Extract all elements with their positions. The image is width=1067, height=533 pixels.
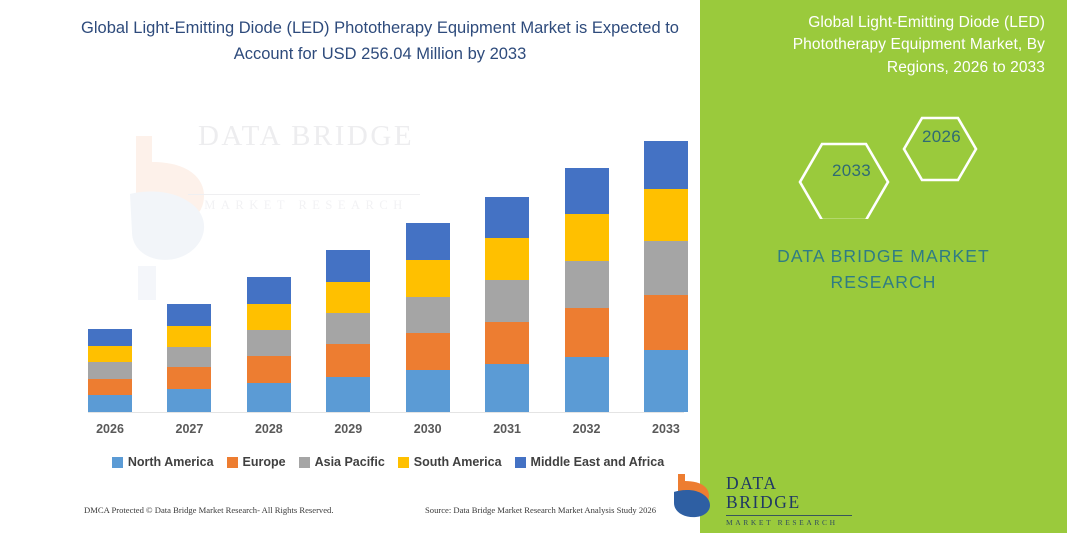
bar-segment[interactable] bbox=[485, 364, 529, 412]
bar-segment[interactable] bbox=[565, 308, 609, 357]
bar-segment[interactable] bbox=[565, 261, 609, 308]
bar-segment[interactable] bbox=[565, 357, 609, 412]
logo-tagline: MARKET RESEARCH bbox=[726, 518, 852, 527]
bar-segment[interactable] bbox=[406, 297, 450, 333]
bar-segment[interactable] bbox=[88, 379, 132, 396]
bar-segment[interactable] bbox=[88, 395, 132, 412]
x-axis-labels: 20262027202820292030203120322033 bbox=[88, 422, 688, 442]
legend-label: North America bbox=[128, 455, 214, 469]
x-axis-label: 2029 bbox=[326, 422, 370, 442]
bar-segment[interactable] bbox=[485, 197, 529, 239]
bar-2027[interactable] bbox=[167, 304, 211, 412]
bar-segment[interactable] bbox=[247, 330, 291, 356]
bar-segment[interactable] bbox=[485, 322, 529, 365]
legend-item[interactable]: North America bbox=[112, 455, 214, 469]
bar-segment[interactable] bbox=[88, 329, 132, 346]
bar-segment[interactable] bbox=[167, 326, 211, 347]
bar-segment[interactable] bbox=[565, 168, 609, 215]
x-axis-line bbox=[88, 412, 684, 413]
footer-source: Source: Data Bridge Market Research Mark… bbox=[425, 505, 656, 515]
infographic-page: Global Light-Emitting Diode (LED) Photot… bbox=[0, 0, 1067, 533]
legend-swatch bbox=[112, 457, 123, 468]
x-axis-label: 2026 bbox=[88, 422, 132, 442]
bar-2030[interactable] bbox=[406, 223, 450, 412]
bar-segment[interactable] bbox=[167, 347, 211, 368]
logo-divider bbox=[726, 515, 852, 516]
hexagon-group: 2033 2026 bbox=[790, 104, 1040, 219]
bar-segment[interactable] bbox=[406, 370, 450, 412]
legend-item[interactable]: Asia Pacific bbox=[299, 455, 385, 469]
bar-segment[interactable] bbox=[247, 356, 291, 383]
hexagons-icon bbox=[790, 104, 1040, 219]
bar-segment[interactable] bbox=[247, 383, 291, 412]
bar-segment[interactable] bbox=[326, 313, 370, 344]
legend-swatch bbox=[398, 457, 409, 468]
x-axis-label: 2030 bbox=[406, 422, 450, 442]
bar-segment[interactable] bbox=[644, 295, 688, 350]
bar-segment[interactable] bbox=[644, 241, 688, 294]
bar-segment[interactable] bbox=[644, 350, 688, 412]
chart-legend: North AmericaEuropeAsia PacificSouth Ame… bbox=[88, 455, 688, 469]
panel-brand-text: DATA BRIDGE MARKET RESEARCH bbox=[700, 243, 1067, 296]
bar-segment[interactable] bbox=[88, 346, 132, 363]
logo-text-block: DATA BRIDGE MARKET RESEARCH bbox=[726, 474, 852, 527]
legend-item[interactable]: Europe bbox=[227, 455, 286, 469]
legend-swatch bbox=[299, 457, 310, 468]
legend-label: Europe bbox=[243, 455, 286, 469]
bar-segment[interactable] bbox=[167, 389, 211, 412]
right-green-panel: Global Light-Emitting Diode (LED) Photot… bbox=[700, 0, 1067, 533]
x-axis-label: 2028 bbox=[247, 422, 291, 442]
bar-segment[interactable] bbox=[326, 282, 370, 313]
logo-name: DATA BRIDGE bbox=[726, 474, 852, 513]
bar-2031[interactable] bbox=[485, 197, 529, 412]
bar-segment[interactable] bbox=[565, 214, 609, 261]
bar-segment[interactable] bbox=[326, 250, 370, 282]
chart-title: Global Light-Emitting Diode (LED) Photot… bbox=[60, 16, 700, 67]
bar-2029[interactable] bbox=[326, 250, 370, 412]
x-axis-label: 2027 bbox=[167, 422, 211, 442]
bar-segment[interactable] bbox=[644, 141, 688, 190]
bar-segment[interactable] bbox=[406, 223, 450, 260]
bar-segment[interactable] bbox=[485, 280, 529, 322]
hexagon-label-2026: 2026 bbox=[922, 127, 961, 147]
bar-segment[interactable] bbox=[247, 304, 291, 330]
bar-segment[interactable] bbox=[247, 277, 291, 304]
bar-segment[interactable] bbox=[485, 238, 529, 280]
data-bridge-mark-icon bbox=[672, 472, 720, 518]
legend-swatch bbox=[227, 457, 238, 468]
panel-brand-line2: RESEARCH bbox=[700, 269, 1067, 295]
bar-segment[interactable] bbox=[406, 260, 450, 296]
legend-label: Middle East and Africa bbox=[531, 455, 665, 469]
bar-2032[interactable] bbox=[565, 168, 609, 412]
footer-copyright: DMCA Protected © Data Bridge Market Rese… bbox=[84, 505, 334, 515]
bar-segment[interactable] bbox=[326, 344, 370, 376]
stacked-bar-series bbox=[88, 100, 688, 412]
legend-label: Asia Pacific bbox=[315, 455, 385, 469]
hexagon-label-2033: 2033 bbox=[832, 161, 871, 181]
legend-label: South America bbox=[414, 455, 502, 469]
legend-item[interactable]: Middle East and Africa bbox=[515, 455, 665, 469]
panel-title: Global Light-Emitting Diode (LED) Photot… bbox=[730, 12, 1045, 79]
bar-segment[interactable] bbox=[167, 304, 211, 326]
x-axis-label: 2031 bbox=[485, 422, 529, 442]
bar-2028[interactable] bbox=[247, 277, 291, 412]
footer: DMCA Protected © Data Bridge Market Rese… bbox=[0, 505, 700, 527]
panel-brand-line1: DATA BRIDGE MARKET bbox=[777, 246, 990, 266]
bar-segment[interactable] bbox=[167, 367, 211, 389]
legend-swatch bbox=[515, 457, 526, 468]
hexagon-left-shape bbox=[800, 144, 888, 219]
legend-item[interactable]: South America bbox=[398, 455, 502, 469]
brand-logo: DATA BRIDGE MARKET RESEARCH bbox=[672, 472, 852, 518]
bar-2026[interactable] bbox=[88, 329, 132, 412]
x-axis-label: 2032 bbox=[565, 422, 609, 442]
bar-segment[interactable] bbox=[644, 189, 688, 241]
x-axis-label: 2033 bbox=[644, 422, 688, 442]
bar-segment[interactable] bbox=[88, 362, 132, 379]
bar-2033[interactable] bbox=[644, 141, 688, 412]
bar-segment[interactable] bbox=[406, 333, 450, 370]
bar-segment[interactable] bbox=[326, 377, 370, 412]
